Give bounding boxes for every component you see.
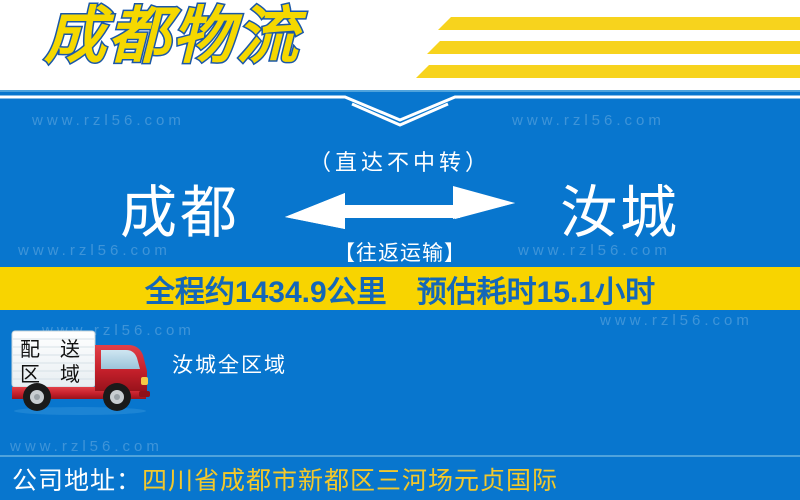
address-label: 公司地址：	[12, 461, 142, 497]
watermark: www.rzl56.com	[512, 112, 665, 129]
truck-box-char-1: 配	[20, 337, 40, 361]
poster-header: 成都物流	[0, 0, 800, 90]
address-value: 四川省成都市新都区三河场元贞国际	[142, 461, 558, 497]
stripe-3	[416, 65, 800, 78]
route-row: 成都 【往返运输】 汝城	[0, 175, 800, 255]
truck-box-char-2: 送	[60, 337, 80, 361]
footer-address: 公司地址： 四川省成都市新都区三河场元贞国际	[0, 457, 800, 500]
top-hairline	[0, 90, 800, 92]
delivery-area-row: 配 送 区 域	[0, 325, 800, 420]
truck-box-char-4: 域	[60, 362, 80, 386]
stats-band: 全程约1434.9公里 预估耗时15.1小时	[0, 267, 800, 310]
truck-box-char-3: 区	[20, 362, 40, 386]
delivery-truck-icon: 配 送 区 域	[6, 325, 156, 417]
delivery-area-label: 汝城全区域	[172, 349, 287, 379]
watermark: www.rzl56.com	[10, 438, 163, 455]
stripe-2	[427, 41, 800, 54]
origin-city: 成都	[60, 175, 300, 251]
double-arrow-icon	[285, 185, 515, 241]
stats-distance: 全程约1434.9公里	[145, 267, 387, 311]
watermark: www.rzl56.com	[32, 112, 185, 129]
stats-duration: 预估耗时15.1小时	[417, 267, 655, 311]
roundtrip-note: 【往返运输】	[285, 237, 515, 267]
poster-body: www.rzl56.com www.rzl56.com www.rzl56.co…	[0, 90, 800, 500]
stripe-1	[438, 17, 800, 30]
logistics-poster: 成都物流 www.rzl56.com www.rzl56.com www.rzl…	[0, 0, 800, 500]
direct-shipping-note: （直达不中转）	[0, 145, 800, 177]
destination-city: 汝城	[500, 175, 740, 251]
logo-title: 成都物流	[44, 6, 300, 68]
